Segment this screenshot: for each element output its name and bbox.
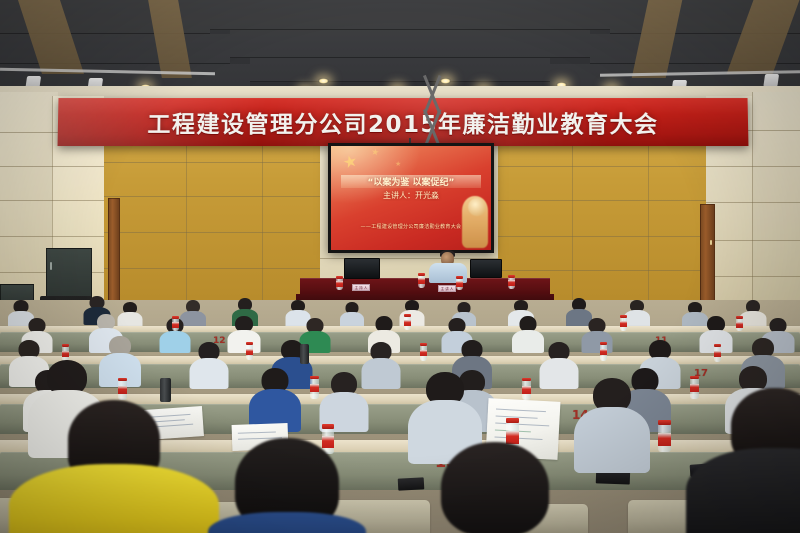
attendee xyxy=(576,378,648,470)
presenter-monitor-right xyxy=(470,259,502,278)
water-bottle xyxy=(456,276,463,290)
water-bottle xyxy=(620,315,627,331)
conference-hall-photo: 工程建设管理分公司2015年廉洁勤业教育大会 ★ ★ ★ “以案为鉴 以案促纪”… xyxy=(0,0,800,533)
thermos-cup xyxy=(160,378,171,402)
water-bottle xyxy=(336,276,343,290)
side-door-right[interactable] xyxy=(700,204,715,304)
water-bottle xyxy=(246,342,253,360)
attendee-foreground-reading xyxy=(420,442,570,533)
downlight-icon xyxy=(318,78,329,84)
cabinet-handle-icon[interactable] xyxy=(50,262,52,270)
attendee-foreground-dark-hair xyxy=(212,438,362,533)
slide-content: ★ ★ ★ “以案为鉴 以案促纪” 主讲人：开光淼 ——工程建设管理分公司廉洁勤… xyxy=(331,146,491,250)
water-bottle xyxy=(118,378,127,400)
star-icon: ★ xyxy=(370,147,380,158)
water-bottle xyxy=(508,275,515,289)
water-bottle xyxy=(658,420,671,452)
projection-screen: ★ ★ ★ “以案为鉴 以案促纪” 主讲人：开光淼 ——工程建设管理分公司廉洁勤… xyxy=(328,143,494,253)
water-bottle xyxy=(600,342,607,361)
attendee-foreground-black-shirt xyxy=(690,388,800,533)
slide-speaker: 主讲人：开光淼 xyxy=(341,190,482,201)
door-handle-icon[interactable] xyxy=(710,240,712,245)
name-placard-left: 主 持 人 xyxy=(352,284,370,291)
slide-title: “以案为鉴 以案促纪” xyxy=(341,175,482,188)
water-bottle xyxy=(404,314,411,330)
star-icon: ★ xyxy=(395,160,401,168)
water-bottle xyxy=(522,378,531,400)
side-door-left[interactable] xyxy=(108,198,120,302)
water-bottle xyxy=(714,344,721,362)
event-banner: 工程建设管理分公司2015年廉洁勤业教育大会 xyxy=(58,98,749,146)
lion-head-graphic xyxy=(468,198,486,216)
water-bottle xyxy=(418,273,425,288)
water-bottle xyxy=(420,343,427,361)
water-bottle xyxy=(310,376,319,399)
water-bottle xyxy=(736,316,743,331)
name-placard-right: 主 讲 人 xyxy=(438,285,456,292)
wall-marble-right-2 xyxy=(752,92,800,306)
water-bottle xyxy=(172,316,179,331)
attendee-foreground-yellow-shirt xyxy=(14,400,214,533)
slide-subtitle: ——工程建设管理分公司廉洁勤业教育大会 xyxy=(337,223,484,230)
presenter-monitor-left xyxy=(344,258,380,279)
event-banner-text: 工程建设管理分公司2015年廉洁勤业教育大会 xyxy=(58,105,749,139)
thermos-cup xyxy=(300,344,309,364)
